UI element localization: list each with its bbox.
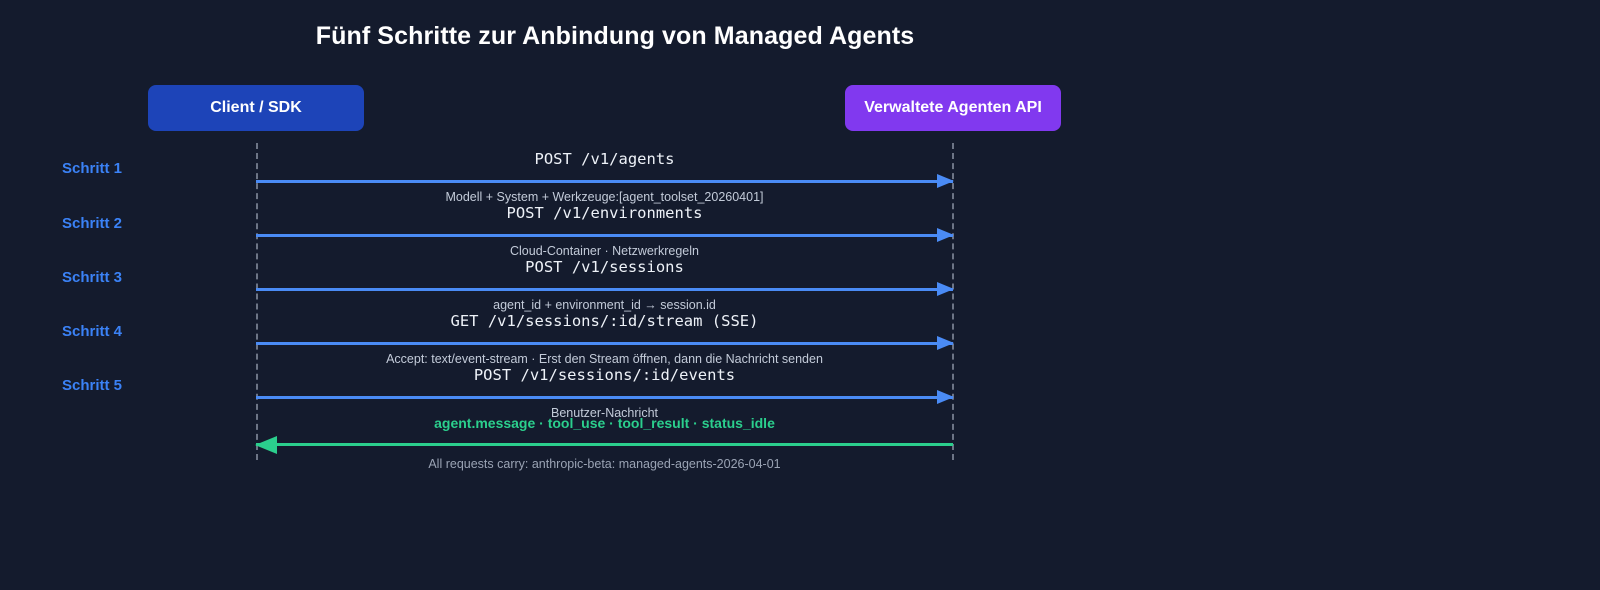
participant-client-sdk-label: Client / SDK — [210, 99, 302, 117]
participant-managed-agents-api-label: Verwaltete Agenten API — [864, 99, 1042, 117]
message-step-4-subtitle: Accept: text/event-stream · Erst den Str… — [256, 352, 953, 366]
step-label-1: Schritt 1 — [62, 160, 232, 177]
message-step-4-title: GET /v1/sessions/:id/stream (SSE) — [256, 312, 953, 330]
message-step-5-arrow — [256, 396, 953, 399]
message-step-1-title: POST /v1/agents — [256, 150, 953, 168]
sequence-diagram-canvas: Fünf Schritte zur Anbindung von Managed … — [0, 0, 1600, 590]
message-response-arrow — [256, 443, 953, 446]
step-label-3: Schritt 3 — [62, 269, 232, 286]
message-step-3-subtitle: agent_id + environment_id → session.id — [256, 298, 953, 312]
message-step-5-title: POST /v1/sessions/:id/events — [256, 366, 953, 384]
participant-client-sdk: Client / SDK — [148, 85, 364, 131]
message-step-1-subtitle: Modell + System + Werkzeuge:[agent_tools… — [256, 190, 953, 204]
arrow-head-right-icon — [937, 390, 954, 404]
step-label-2: Schritt 2 — [62, 215, 232, 232]
message-step-1-arrow — [256, 180, 953, 183]
page-title: Fünf Schritte zur Anbindung von Managed … — [0, 22, 1230, 51]
step-label-4: Schritt 4 — [62, 323, 232, 340]
arrow-head-right-icon — [937, 228, 954, 242]
participant-managed-agents-api: Verwaltete Agenten API — [845, 85, 1061, 131]
message-step-2-arrow — [256, 234, 953, 237]
arrow-head-right-icon — [937, 282, 954, 296]
message-step-4-arrow — [256, 342, 953, 345]
message-step-2-subtitle: Cloud-Container · Netzwerkregeln — [256, 244, 953, 258]
message-response-label: agent.message · tool_use · tool_result ·… — [256, 415, 953, 431]
arrow-head-right-icon — [937, 174, 954, 188]
arrow-head-left-icon — [255, 436, 277, 454]
step-label-5: Schritt 5 — [62, 377, 232, 394]
message-step-2-title: POST /v1/environments — [256, 204, 953, 222]
arrow-head-right-icon — [937, 336, 954, 350]
message-step-3-arrow — [256, 288, 953, 291]
message-step-3-title: POST /v1/sessions — [256, 258, 953, 276]
footer-note: All requests carry: anthropic-beta: mana… — [256, 457, 953, 471]
